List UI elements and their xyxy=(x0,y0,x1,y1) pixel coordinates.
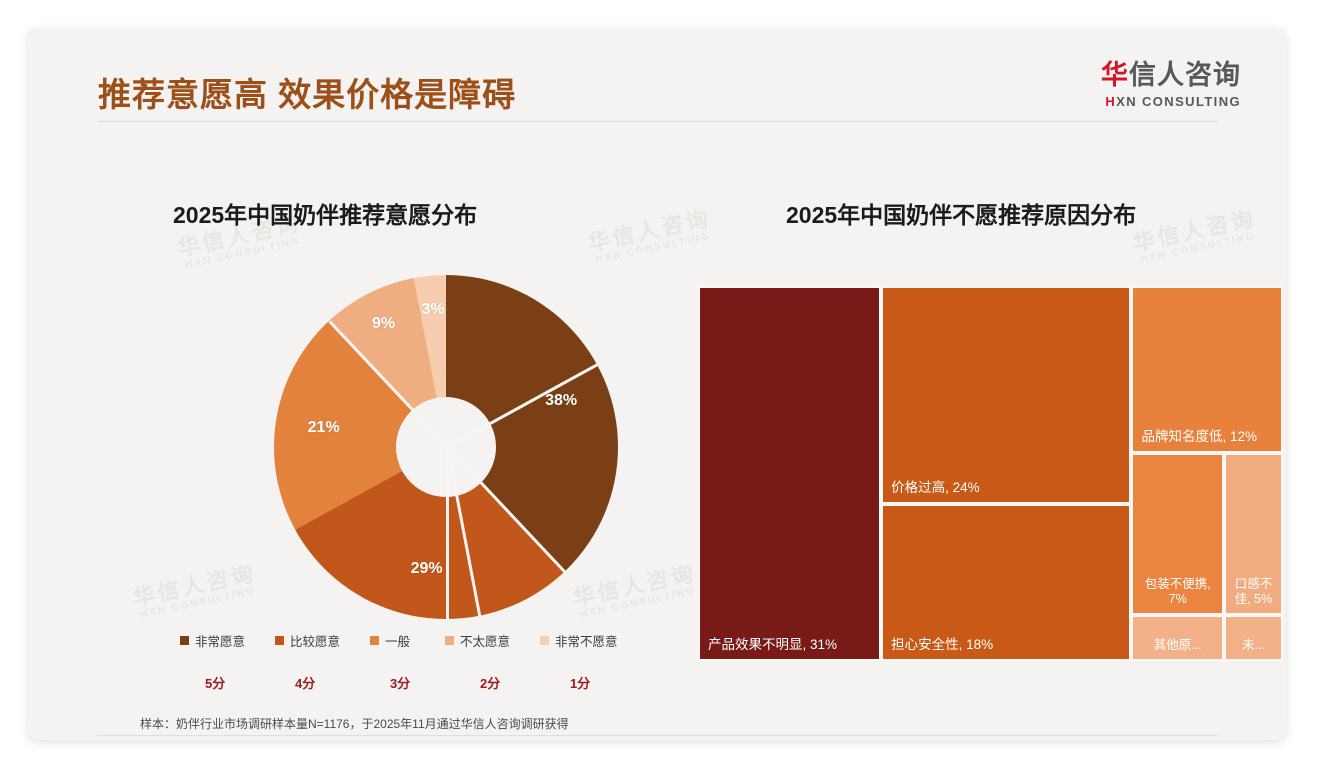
donut-chart-title: 2025年中国奶伴推荐意愿分布 xyxy=(173,196,477,230)
donut-slice-label: 29% xyxy=(411,560,443,578)
score-label-2: 4分 xyxy=(295,673,315,692)
logo-en-rest: XN CONSULTING xyxy=(1116,94,1241,109)
watermark: 华信人咨询 HXN CONSULTING xyxy=(586,205,716,267)
treemap-tile[interactable]: 品牌知名度低, 12% xyxy=(1131,286,1283,453)
treemap-tile[interactable]: 未... xyxy=(1224,615,1283,661)
legend-label: 一般 xyxy=(385,631,410,650)
legend-item-2[interactable]: 比较愿意 xyxy=(275,631,340,650)
treemap-tile[interactable]: 口感不佳, 5% xyxy=(1224,453,1283,615)
legend-swatch-icon xyxy=(370,636,379,645)
donut-slice-label: 9% xyxy=(372,315,395,333)
legend-label: 比较愿意 xyxy=(290,631,340,650)
donut-legend: 非常愿意比较愿意一般不太愿意非常不愿意 xyxy=(180,631,650,649)
logo-english: HXN CONSULTING xyxy=(1101,94,1241,109)
donut-separator xyxy=(446,447,449,619)
score-label-4: 2分 xyxy=(480,673,500,692)
score-label-1: 5分 xyxy=(205,673,225,692)
legend-swatch-icon xyxy=(540,636,549,645)
legend-item-1[interactable]: 非常愿意 xyxy=(180,631,245,650)
slide-card: 华信人咨询 HXN CONSULTING 华信人咨询 HXN CONSULTIN… xyxy=(28,28,1286,740)
logo-rest-chars: 信人咨询 xyxy=(1129,60,1241,90)
treemap-chart-title: 2025年中国奶伴不愿推荐原因分布 xyxy=(786,196,1136,230)
treemap-tile-label: 未... xyxy=(1230,638,1277,654)
logo-chinese: 华信人咨询 xyxy=(1101,61,1241,91)
score-label-5: 1分 xyxy=(570,673,590,692)
watermark: 华信人咨询 HXN CONSULTING xyxy=(1131,205,1261,267)
legend-label: 不太愿意 xyxy=(460,631,510,650)
logo-h-char: H xyxy=(1105,94,1116,109)
treemap-tile[interactable]: 其他原... xyxy=(1131,615,1223,661)
treemap-tile[interactable]: 价格过高, 24% xyxy=(881,286,1131,504)
donut-slice-label: 38% xyxy=(545,392,577,410)
treemap-tile-label: 价格过高, 24% xyxy=(891,480,1123,497)
treemap-chart: 产品效果不明显, 31%价格过高, 24%担心安全性, 18%品牌知名度低, 1… xyxy=(698,286,1283,661)
treemap-tile-label: 担心安全性, 18% xyxy=(891,637,1123,654)
score-scale-row: 5分4分3分2分1分 xyxy=(180,673,650,691)
treemap-tile-label: 其他原... xyxy=(1137,638,1217,654)
legend-label: 非常愿意 xyxy=(195,631,245,650)
footer-divider xyxy=(98,735,1218,736)
logo-hua-char: 华 xyxy=(1101,60,1129,90)
legend-label: 非常不愿意 xyxy=(555,631,618,650)
title-divider xyxy=(98,121,1218,122)
page-title: 推荐意愿高 效果价格是障碍 xyxy=(98,68,516,116)
donut-slice-label: 3% xyxy=(421,301,444,319)
legend-item-5[interactable]: 非常不愿意 xyxy=(540,631,618,650)
donut-slice-label: 21% xyxy=(308,419,340,437)
treemap-tile[interactable]: 产品效果不明显, 31% xyxy=(698,286,881,661)
legend-item-3[interactable]: 一般 xyxy=(370,631,410,650)
treemap-tile[interactable]: 包装不便携, 7% xyxy=(1131,453,1223,615)
treemap-tile[interactable]: 担心安全性, 18% xyxy=(881,504,1131,661)
legend-item-4[interactable]: 不太愿意 xyxy=(445,631,510,650)
donut-chart: 38%29%21%9%3% xyxy=(174,275,614,620)
score-label-3: 3分 xyxy=(390,673,410,692)
legend-swatch-icon xyxy=(180,636,189,645)
legend-swatch-icon xyxy=(275,636,284,645)
treemap-tile-label: 品牌知名度低, 12% xyxy=(1141,429,1275,446)
legend-swatch-icon xyxy=(445,636,454,645)
treemap-tile-label: 包装不便携, 7% xyxy=(1137,577,1217,608)
treemap-tile-label: 产品效果不明显, 31% xyxy=(708,637,873,654)
treemap-tile-label: 口感不佳, 5% xyxy=(1230,577,1277,608)
sample-footnote: 样本：奶伴行业市场调研样本量N=1176，于2025年11月通过华信人咨询调研获… xyxy=(140,715,569,732)
brand-logo: 华信人咨询 HXN CONSULTING xyxy=(1101,61,1241,109)
